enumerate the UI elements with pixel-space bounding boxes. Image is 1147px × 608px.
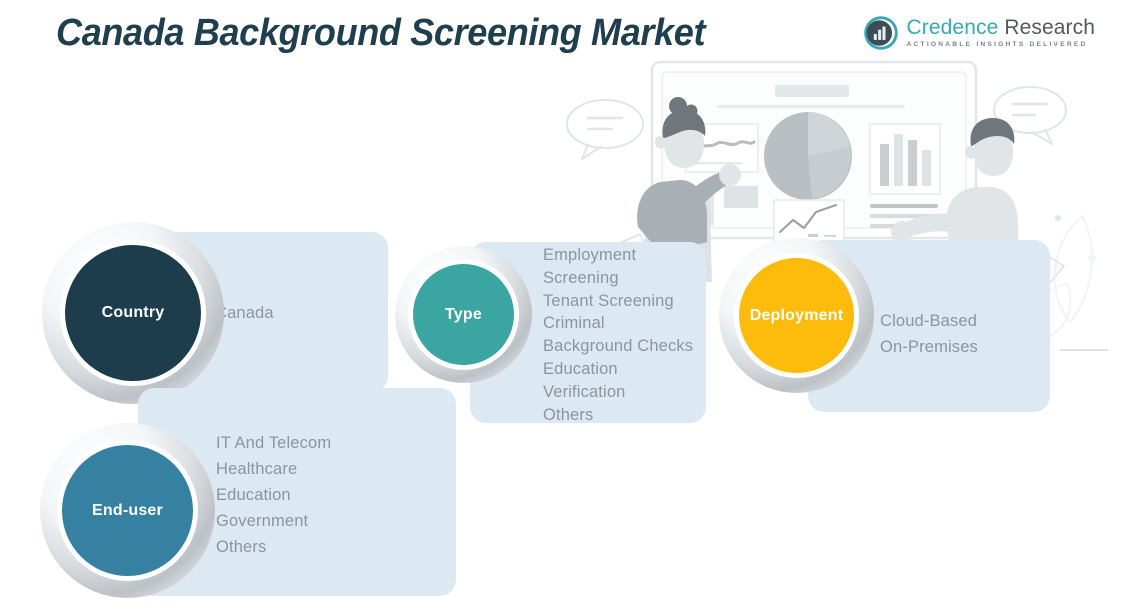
bubble-deployment[interactable]: Deployment [719,238,874,393]
bubble-country[interactable]: Country [42,222,224,404]
logo-word-credence: Credence [907,16,999,39]
bubble-end-user[interactable]: End-user [40,423,215,598]
speech-bubble-left [567,100,643,159]
bubble-type[interactable]: Type [395,246,532,383]
infographic-canvas: Canada Background Screening Market Crede… [0,0,1147,608]
speech-bubble-right [994,87,1066,144]
bubble-end-user-ring: End-user [57,440,198,581]
logo-text-block: Credence Research Actionable Insights De… [907,17,1095,49]
credence-bar-chart-mark-icon [864,16,898,50]
bubble-country-label: Country [102,304,165,322]
whiteboard-screen [652,62,976,238]
page-title: Canada Background Screening Market [56,12,705,55]
bubble-type-label: Type [445,306,482,324]
bar-chart-panel [870,124,940,194]
card-end-user-items: IT And Telecom Healthcare Education Gove… [216,430,436,560]
bubble-end-user-label: End-user [92,502,163,520]
pie-chart [764,112,852,200]
bubble-deployment-ring: Deployment [734,253,859,378]
credence-research-logo: Credence Research Actionable Insights De… [864,16,1095,50]
bubble-type-ring: Type [408,259,519,370]
bubble-country-ring: Country [60,240,206,386]
logo-tagline: Actionable Insights Delivered [907,42,1095,49]
card-deployment-items: Cloud-Based On-Premises [880,308,1060,360]
line-chart-panel [686,124,758,172]
card-country-items: Canada [215,300,375,326]
card-type-items: Employment Screening Tenant Screening Cr… [543,244,723,426]
logo-word-research: Research [1004,16,1095,39]
bubble-deployment-label: Deployment [750,307,844,325]
logo-wordmark: Credence Research [907,17,1095,38]
